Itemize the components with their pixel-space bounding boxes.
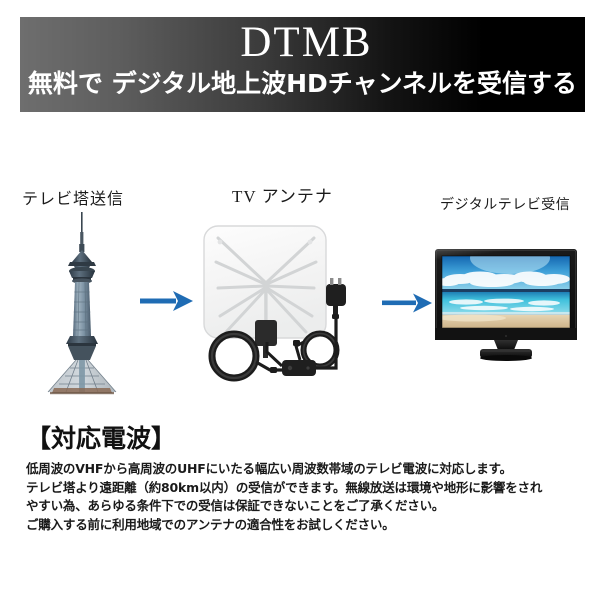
spec-body: 低周波のVHFから高周波のUHFにいたる幅広い周波数帯域のテレビ電波に対応します… (26, 460, 586, 534)
arrow-antenna-to-tv-icon (382, 291, 434, 315)
flat-antenna-illustration (196, 222, 386, 382)
product-infographic: DTMB 無料で デジタル地上波HDチャンネルを受信する テレビ塔送信 TV ア… (0, 0, 600, 600)
header-banner: DTMB 無料で デジタル地上波HDチャンネルを受信する (20, 17, 585, 112)
spec-heading: 【対応電波】 (26, 424, 586, 454)
spec-line: テレビ塔より遠距離（約80km以内）の受信ができます。無線放送は環境や地形に影響… (26, 479, 586, 498)
television-illustration (432, 246, 587, 376)
header-subtitle: 無料で デジタル地上波HDチャンネルを受信する (20, 65, 585, 103)
spec-section: 【対応電波】 低周波のVHFから高周波のUHFにいたる幅広い周波数帯域のテレビ電… (26, 424, 586, 534)
page-title: DTMB (20, 19, 585, 67)
tv-label: デジタルテレビ受信 (440, 194, 570, 214)
spec-line: ご購入する前に利用地域でのアンテナの適合性をお試しください。 (26, 516, 586, 535)
tower-label: テレビ塔送信 (22, 185, 124, 209)
arrow-tower-to-antenna-icon (140, 288, 195, 314)
spec-line: 低周波のVHFから高周波のUHFにいたる幅広い周波数帯域のテレビ電波に対応します… (26, 460, 586, 479)
antenna-label: TV アンテナ (232, 182, 333, 207)
spec-line: やすい為、あらゆる条件下での受信は保証できないことをご了承ください。 (26, 497, 586, 516)
broadcast-tower-illustration (40, 210, 124, 395)
